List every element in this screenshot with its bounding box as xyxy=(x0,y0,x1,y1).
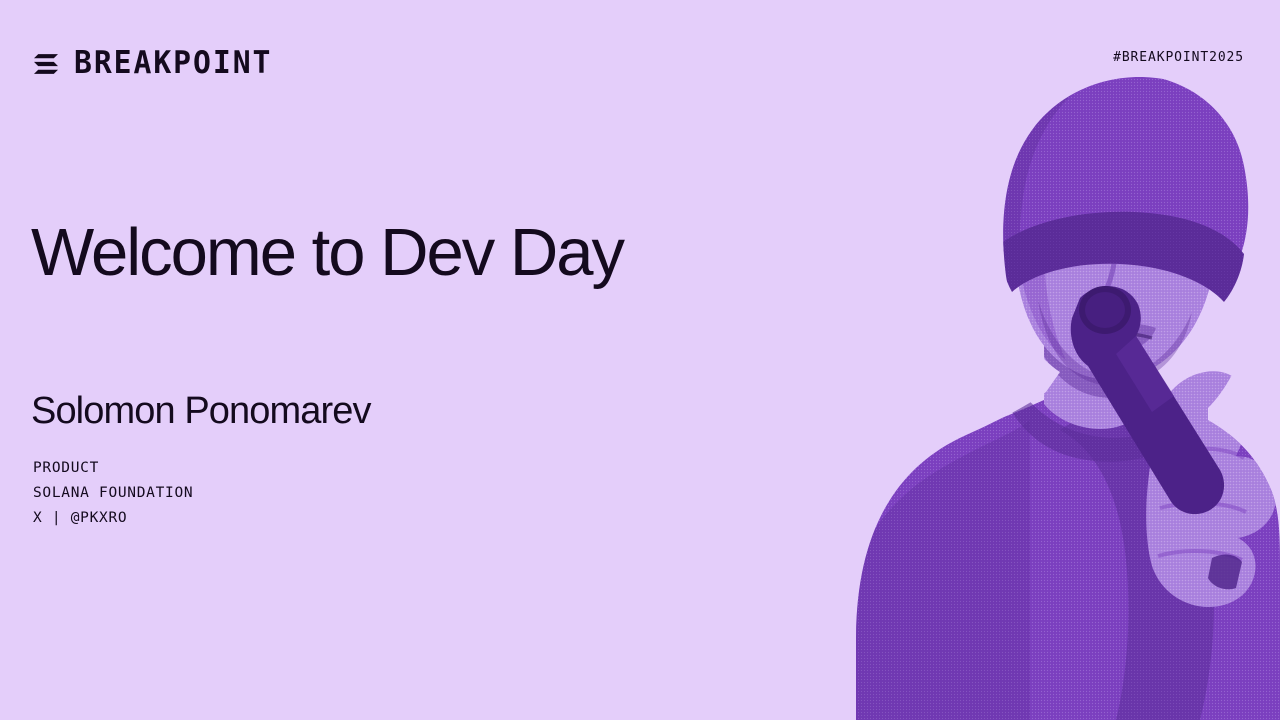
event-hashtag: #BREAKPOINT2025 xyxy=(1113,50,1244,66)
page-title: Welcome to Dev Day xyxy=(31,213,623,293)
slide-content: Welcome to Dev Day Solomon Ponomarev PRO… xyxy=(0,0,700,720)
speaker-social-handle: X | @PKXRO xyxy=(33,506,193,531)
speaker-organization: SOLANA FOUNDATION xyxy=(33,481,193,506)
presentation-slide: BREAKPOINT #BREAKPOINT2025 Welcome to De… xyxy=(0,0,1280,720)
speaker-name: Solomon Ponomarev xyxy=(31,388,371,434)
speaker-meta: PRODUCT SOLANA FOUNDATION X | @PKXRO xyxy=(33,456,193,531)
speaker-role: PRODUCT xyxy=(33,456,193,481)
portrait-body xyxy=(810,73,1280,720)
